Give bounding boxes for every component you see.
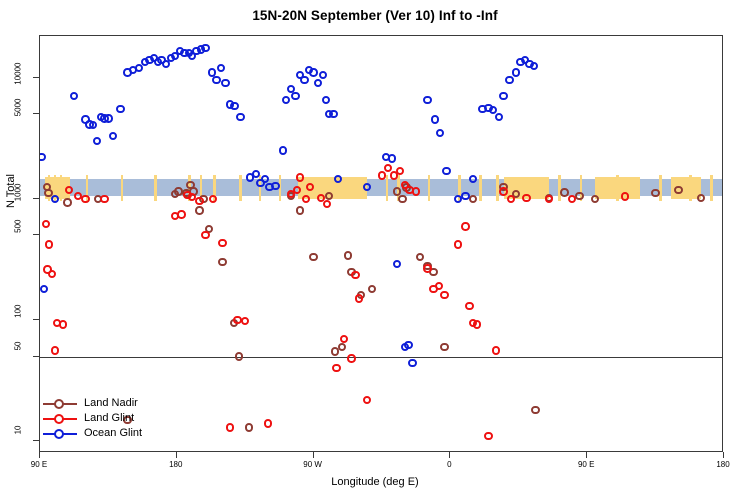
point-land-nadir xyxy=(344,251,352,259)
x-axis-tick-label: 0 xyxy=(424,460,474,469)
point-land-glint xyxy=(45,240,53,248)
point-ocean-glint xyxy=(319,71,327,79)
point-land-nadir xyxy=(309,253,317,261)
shaded-band-gold-spike xyxy=(479,175,482,200)
shaded-band-gold-spike xyxy=(239,175,242,200)
legend-item[interactable]: Land Glint xyxy=(43,411,168,426)
point-land-nadir xyxy=(591,195,599,203)
point-land-nadir xyxy=(235,352,243,360)
point-ocean-glint xyxy=(309,68,317,76)
point-land-glint xyxy=(177,210,185,218)
point-land-glint xyxy=(100,195,108,203)
point-ocean-glint xyxy=(104,114,112,122)
shaded-band-gold-spike xyxy=(616,175,619,200)
chart-legend: Land NadirLand GlintOcean Glint xyxy=(43,396,168,441)
point-land-nadir xyxy=(245,423,253,431)
shaded-band-gold-spike xyxy=(121,175,124,200)
point-land-glint xyxy=(363,396,371,404)
point-land-glint xyxy=(306,183,314,191)
point-land-nadir xyxy=(575,192,583,200)
x-axis-tick-label: 90 W xyxy=(288,460,338,469)
y-axis-tick-label: 500 xyxy=(14,220,23,246)
y-axis-tick xyxy=(33,234,39,235)
x-axis-tick xyxy=(39,452,40,458)
point-land-glint xyxy=(484,432,492,440)
point-ocean-glint xyxy=(89,121,97,129)
point-ocean-glint xyxy=(423,96,431,104)
point-land-glint xyxy=(347,354,355,362)
point-land-glint xyxy=(423,264,431,272)
legend-item[interactable]: Ocean Glint xyxy=(43,426,168,441)
point-ocean-glint xyxy=(329,110,337,118)
point-ocean-glint xyxy=(93,137,101,145)
shaded-band-gold-spike xyxy=(60,175,63,200)
point-land-glint xyxy=(51,346,59,354)
y-axis-tick xyxy=(33,440,39,441)
chart-figure: 15N-20N September (Ver 10) Inf to -Inf N… xyxy=(0,0,750,500)
point-land-glint xyxy=(201,231,209,239)
shaded-band-gold-spike xyxy=(659,175,662,200)
point-land-glint xyxy=(340,335,348,343)
point-ocean-glint xyxy=(404,341,412,349)
point-land-glint xyxy=(435,282,443,290)
point-land-nadir xyxy=(416,253,424,261)
x-axis-tick xyxy=(586,452,587,458)
point-ocean-glint xyxy=(512,68,520,76)
point-land-glint xyxy=(378,171,386,179)
point-land-nadir xyxy=(560,188,568,196)
x-axis-tick xyxy=(723,452,724,458)
point-land-nadir xyxy=(531,406,539,414)
shaded-band-gold-spike xyxy=(710,175,713,200)
point-land-glint xyxy=(302,195,310,203)
point-ocean-glint xyxy=(499,92,507,100)
point-land-glint xyxy=(465,302,473,310)
point-ocean-glint xyxy=(221,79,229,87)
point-land-nadir xyxy=(218,258,226,266)
point-ocean-glint xyxy=(530,62,538,70)
point-ocean-glint xyxy=(230,102,238,110)
x-axis-tick-label: 180 xyxy=(698,460,748,469)
point-land-glint xyxy=(355,294,363,302)
point-land-glint xyxy=(492,346,500,354)
x-axis-tick xyxy=(313,452,314,458)
point-land-nadir xyxy=(174,187,182,195)
point-land-glint xyxy=(396,167,404,175)
point-land-glint xyxy=(332,364,340,372)
point-ocean-glint xyxy=(300,76,308,84)
point-ocean-glint xyxy=(291,92,299,100)
legend-marker-icon xyxy=(54,414,64,424)
x-axis-tick-label: 90 E xyxy=(14,460,64,469)
point-ocean-glint xyxy=(388,154,396,162)
point-land-glint xyxy=(42,220,50,228)
point-land-glint xyxy=(81,195,89,203)
point-land-nadir xyxy=(195,206,203,214)
y-axis-tick-label: 10 xyxy=(14,426,23,452)
point-ocean-glint xyxy=(217,64,225,72)
shaded-band-gold-spike xyxy=(154,175,157,200)
point-ocean-glint xyxy=(201,44,209,52)
x-axis-tick xyxy=(449,452,450,458)
shaded-band-gold-spike xyxy=(689,175,692,200)
point-land-nadir xyxy=(440,343,448,351)
point-ocean-glint xyxy=(363,183,371,191)
point-land-glint xyxy=(195,197,203,205)
point-land-nadir xyxy=(651,189,659,197)
reference-line xyxy=(40,357,723,358)
point-ocean-glint xyxy=(70,92,78,100)
point-ocean-glint xyxy=(505,76,513,84)
y-axis-tick-label: 1000 xyxy=(14,183,23,209)
x-axis-tick-label: 90 E xyxy=(561,460,611,469)
point-land-glint xyxy=(59,320,67,328)
point-land-nadir xyxy=(469,195,477,203)
point-land-glint xyxy=(440,291,448,299)
legend-item-label: Land Glint xyxy=(84,411,134,426)
legend-marker-icon xyxy=(54,399,64,409)
shaded-band-gold-spike xyxy=(386,175,389,200)
point-ocean-glint xyxy=(495,113,503,121)
point-land-glint xyxy=(351,271,359,279)
legend-item-label: Land Nadir xyxy=(84,396,138,411)
point-ocean-glint xyxy=(322,96,330,104)
x-axis-tick xyxy=(176,452,177,458)
point-land-nadir xyxy=(697,194,705,202)
y-axis-tick xyxy=(33,356,39,357)
point-ocean-glint xyxy=(393,260,401,268)
point-ocean-glint xyxy=(51,195,59,203)
point-ocean-glint xyxy=(408,359,416,367)
point-land-nadir xyxy=(338,343,346,351)
point-ocean-glint xyxy=(40,285,48,293)
point-land-glint xyxy=(499,187,507,195)
point-ocean-glint xyxy=(431,115,439,123)
point-land-nadir xyxy=(296,206,304,214)
point-ocean-glint xyxy=(461,192,469,200)
point-land-glint xyxy=(241,317,249,325)
point-land-glint xyxy=(461,222,469,230)
point-ocean-glint xyxy=(436,129,444,137)
x-axis-label: Longitude (deg E) xyxy=(0,476,750,488)
point-land-glint xyxy=(209,195,217,203)
point-land-nadir xyxy=(368,285,376,293)
point-land-glint xyxy=(522,194,530,202)
y-axis-tick-label: 10000 xyxy=(14,62,23,88)
point-land-nadir xyxy=(674,186,682,194)
point-ocean-glint xyxy=(39,153,46,161)
chart-title: 15N-20N September (Ver 10) Inf to -Inf xyxy=(0,8,750,23)
legend-item[interactable]: Land Nadir xyxy=(43,396,168,411)
point-ocean-glint xyxy=(212,76,220,84)
y-axis-tick-label: 5000 xyxy=(14,99,23,125)
point-land-glint xyxy=(545,195,553,203)
point-land-glint xyxy=(412,187,420,195)
point-land-glint xyxy=(48,270,56,278)
x-axis-tick-label: 180 xyxy=(151,460,201,469)
point-land-glint xyxy=(454,240,462,248)
point-land-glint xyxy=(296,173,304,181)
y-axis-tick xyxy=(33,113,39,114)
point-land-nadir xyxy=(63,198,71,206)
y-axis-tick xyxy=(33,198,39,199)
point-land-glint xyxy=(507,195,515,203)
point-ocean-glint xyxy=(314,79,322,87)
y-axis-tick-label: 100 xyxy=(14,305,23,331)
point-land-glint xyxy=(473,320,481,328)
point-land-glint xyxy=(264,419,272,427)
point-ocean-glint xyxy=(271,182,279,190)
point-ocean-glint xyxy=(442,167,450,175)
legend-item-label: Ocean Glint xyxy=(84,426,142,441)
point-ocean-glint xyxy=(116,105,124,113)
point-ocean-glint xyxy=(279,146,287,154)
point-land-glint xyxy=(568,195,576,203)
point-ocean-glint xyxy=(109,132,117,140)
y-axis-tick xyxy=(33,319,39,320)
point-land-glint xyxy=(218,239,226,247)
plot-area xyxy=(39,35,723,452)
shaded-band-gold-spike xyxy=(428,175,431,200)
y-axis-tick xyxy=(33,77,39,78)
point-ocean-glint xyxy=(282,96,290,104)
point-land-glint xyxy=(621,192,629,200)
point-ocean-glint xyxy=(236,113,244,121)
point-land-glint xyxy=(323,200,331,208)
point-land-nadir xyxy=(398,195,406,203)
shaded-band-gold-spike xyxy=(496,175,499,200)
y-axis-tick-label: 50 xyxy=(14,341,23,367)
legend-marker-icon xyxy=(54,429,64,439)
point-land-glint xyxy=(226,423,234,431)
